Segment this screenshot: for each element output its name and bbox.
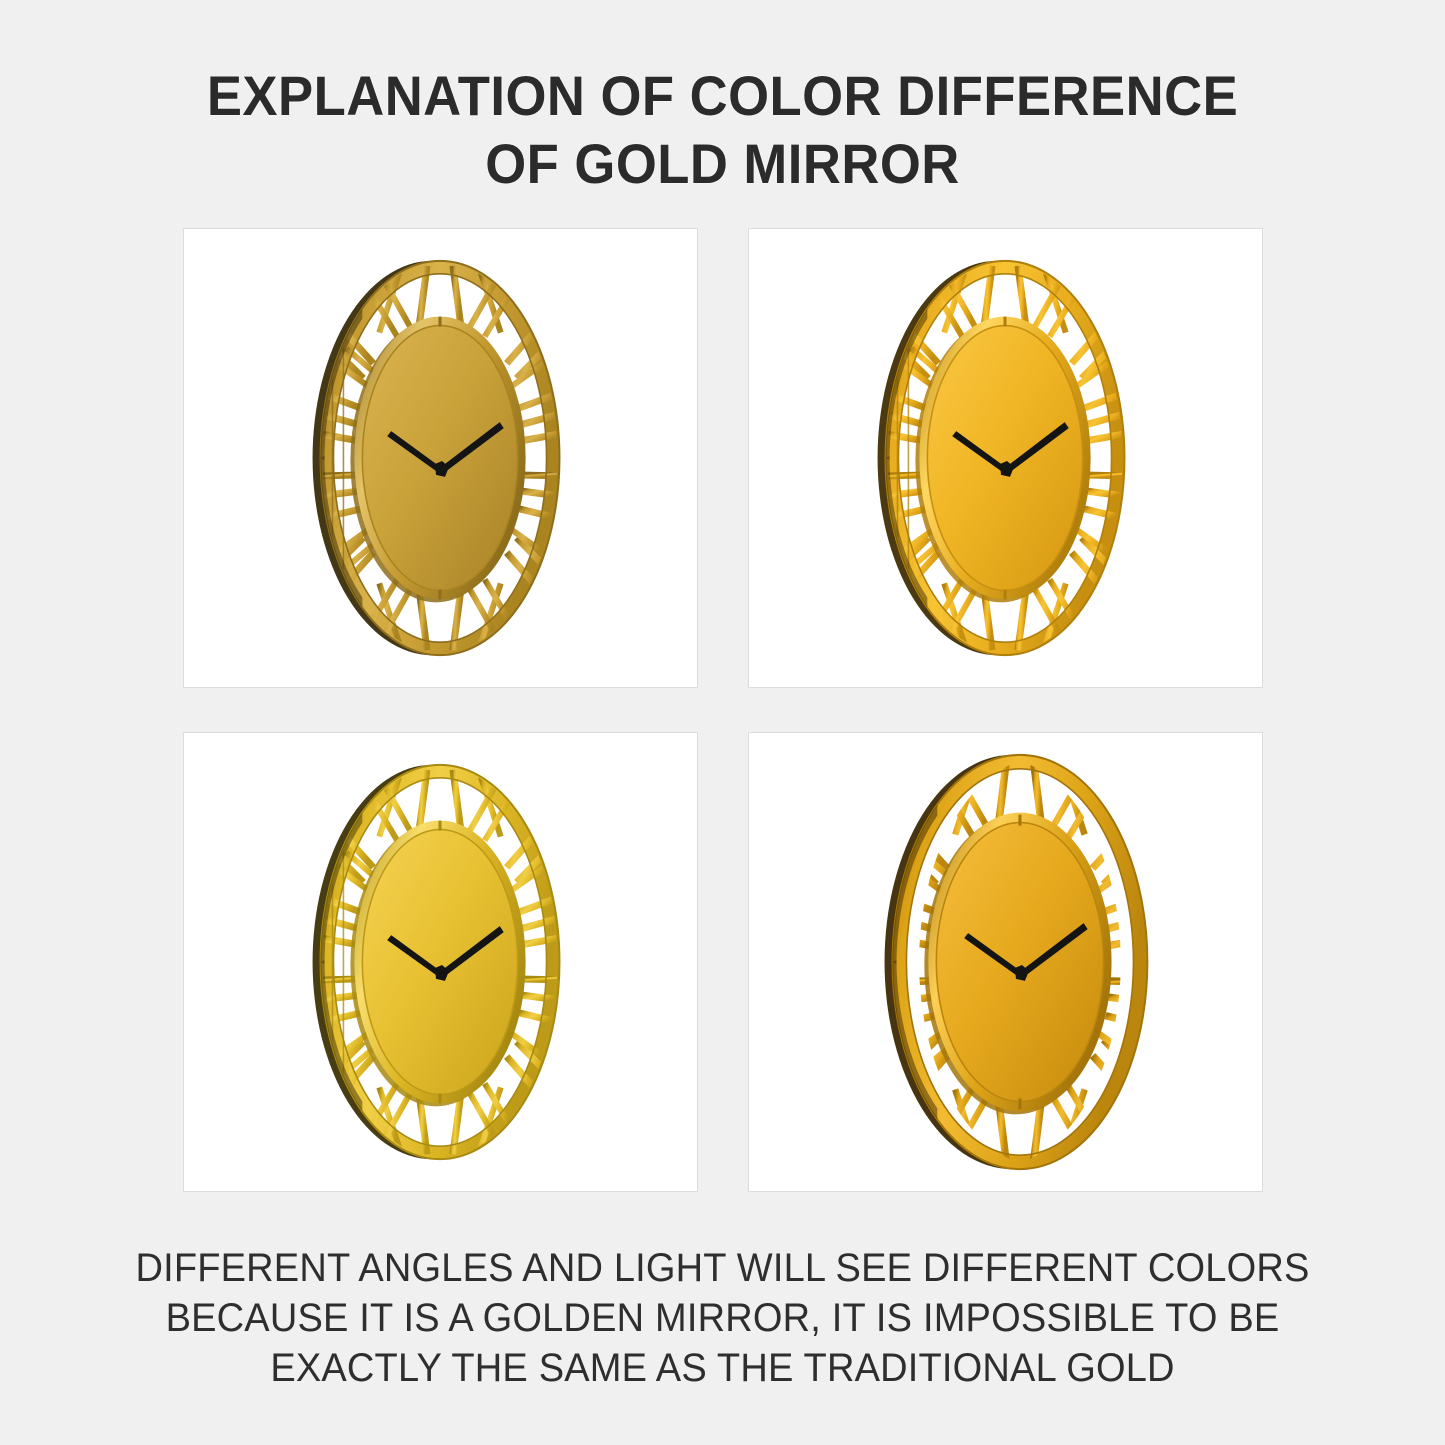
clock-illustration-bottom-right — [749, 733, 1262, 1191]
caption-line-1: DIFFERENT ANGLES AND LIGHT WILL SEE DIFF… — [131, 1243, 1314, 1293]
clock-illustration-top-right — [749, 229, 1262, 687]
product-photo-panel-top-left[interactable] — [183, 228, 698, 688]
product-photo-panel-bottom-right[interactable] — [748, 732, 1263, 1192]
caption-line-2: BECAUSE IT IS A GOLDEN MIRROR, IT IS IMP… — [131, 1293, 1314, 1343]
clock-body — [878, 261, 1125, 655]
product-photo-panel-top-right[interactable] — [748, 228, 1263, 688]
caption: DIFFERENT ANGLES AND LIGHT WILL SEE DIFF… — [0, 1243, 1445, 1393]
caption-line-3: EXACTLY THE SAME AS THE TRADITIONAL GOLD — [131, 1343, 1314, 1393]
clock-body — [313, 765, 560, 1159]
clock-body — [885, 755, 1150, 1169]
product-photo-panel-bottom-left[interactable] — [183, 732, 698, 1192]
clock-illustration-bottom-left — [184, 733, 697, 1191]
clock-body — [313, 261, 560, 655]
page-title-line-1: EXPLANATION OF COLOR DIFFERENCE — [128, 62, 1317, 130]
page-title-line-2: OF GOLD MIRROR — [128, 130, 1317, 198]
clock-illustration-top-left — [184, 229, 697, 687]
page-title: EXPLANATION OF COLOR DIFFERENCE OF GOLD … — [0, 62, 1445, 198]
product-image-grid — [183, 228, 1245, 1192]
